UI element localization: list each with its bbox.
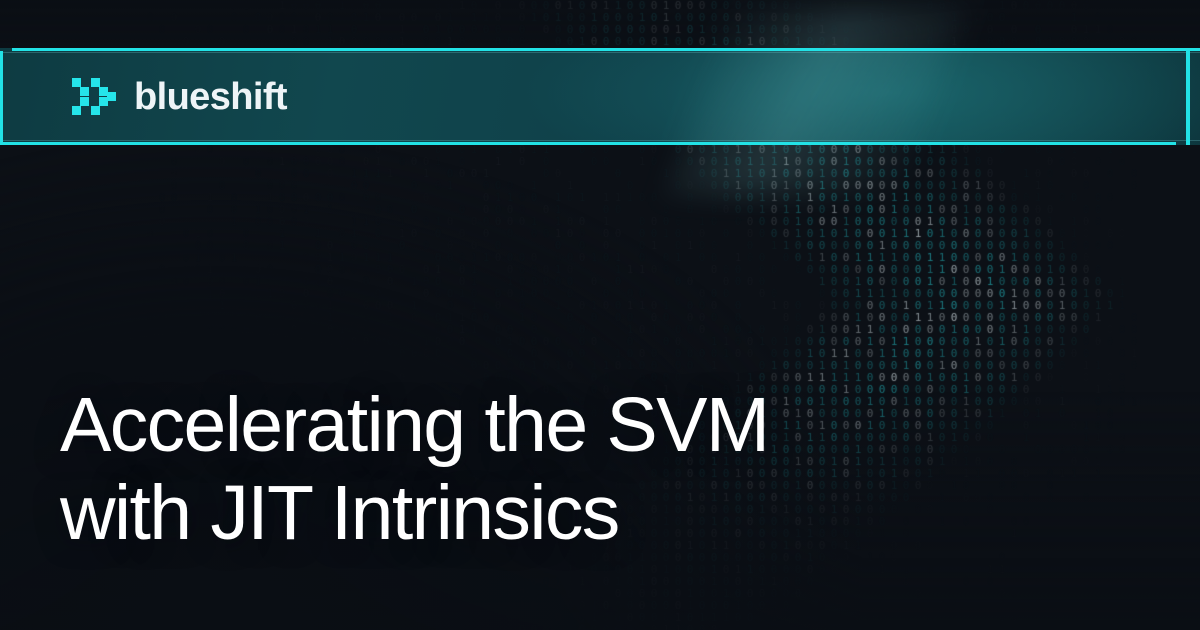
band-edge-right [1186, 48, 1190, 145]
title-line-2: with JIT Intrinsics [60, 470, 960, 558]
band-inner-hairline-top [0, 52, 1200, 53]
band-edge-bottom [0, 142, 1176, 145]
band-edge-left [0, 51, 3, 145]
brand-logo[interactable]: blueshift [72, 74, 287, 120]
band-inner-hairline-bottom [0, 140, 1200, 141]
brand-wordmark: blueshift [134, 78, 287, 116]
band-edge-top [12, 48, 1200, 51]
double-chevron-pixel-icon [72, 78, 116, 116]
page-title: Accelerating the SVM with JIT Intrinsics [60, 382, 960, 558]
title-line-1: Accelerating the SVM [60, 382, 960, 470]
og-card: blueshift Accelerating the SVM with JIT … [0, 0, 1200, 630]
